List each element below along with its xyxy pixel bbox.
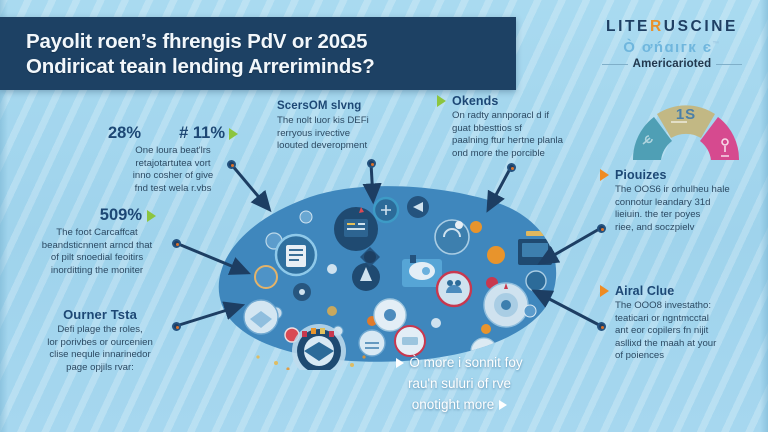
body-line: On radty annporacl d if	[452, 110, 582, 123]
body-line: The nolt luor kis DEFi	[277, 115, 412, 128]
body-line: of pilt snoedial feoitirs	[22, 252, 172, 265]
block-okends-body: On radty annporacl d if guat bbesttios s…	[437, 110, 582, 160]
triangle-marker-icon	[437, 95, 446, 107]
stat-11: # 11%	[179, 124, 225, 143]
body-line: inorditting the moniter	[22, 265, 172, 278]
callout-line-3-row: onotight more	[352, 394, 567, 415]
page-title-line-1: Payolit roen’s fhrengis PdV or 20Ω5	[26, 29, 375, 54]
anchor-dot-scersom	[367, 159, 376, 168]
body-line: teaticari or ngntmcctal	[615, 313, 762, 326]
body-line: rerryous irvective	[277, 128, 412, 141]
logo-part-a: LITE	[606, 18, 650, 35]
body-line: lieiuin. the ter poyes	[615, 209, 760, 222]
body-line: fnd test wela r.vbs	[108, 183, 238, 196]
body-line: retajotartutea vort	[108, 158, 238, 171]
block-okends: Okends On radty annporacl d if guat bbes…	[437, 94, 582, 160]
tagline-rule-right	[716, 64, 742, 65]
callout-line-3: onotight more	[412, 394, 495, 415]
right-edge-shadow	[760, 0, 768, 432]
block-scersom-slvng-body: The nolt luor kis DEFi rerryous irvectiv…	[277, 115, 412, 153]
triangle-marker-icon	[600, 169, 609, 181]
block-509: 509% The foot Carcaffcat beandsticnnent …	[22, 206, 172, 277]
triangle-marker-icon	[600, 285, 609, 297]
play-triangle-icon	[396, 358, 404, 368]
block-509-body: The foot Carcaffcat beandsticnnent arncd…	[22, 227, 172, 277]
triangle-marker-icon	[147, 210, 156, 222]
body-line: guat bbesttios sf	[452, 123, 582, 136]
block-scersom-slvng: ScersOM slvng The nolt luor kis DEFi rer…	[277, 99, 412, 153]
block-piouizes-body: The OOS6 ir orhulheu hale connotur leand…	[600, 184, 760, 234]
tagline-rule-left	[602, 64, 628, 65]
block-scersom-slvng-heading: ScersOM slvng	[277, 99, 412, 113]
block-ourner-tsta: Ourner Tsta Defi plage the roles, lor po…	[26, 308, 174, 374]
infographic-canvas: Payolit roen’s fhrengis PdV or 20Ω5 Ondi…	[0, 0, 768, 432]
body-line: One loura beat'lrs	[108, 145, 238, 158]
body-line: The OOO8 investatho:	[615, 300, 762, 313]
anchor-dot-okends	[507, 163, 516, 172]
block-stat-cluster: 28% # 11% One loura beat'lrs retajotartu…	[108, 124, 238, 195]
stat-509: 509%	[100, 206, 142, 225]
body-line: ant eor copilers fn nijit	[615, 325, 762, 338]
logo-script-line: Ò ơńɑıгк є™	[586, 36, 758, 56]
callout-line-2: rau'n suluri of rve	[352, 373, 567, 394]
body-line: riee, and soczpielv	[615, 222, 760, 235]
body-line: connotur leandary 31d	[615, 197, 760, 210]
bottom-callout: Ò more i sonnit foy rau'n suluri of rve …	[352, 352, 567, 415]
stat-11-group: # 11%	[179, 124, 238, 143]
block-airal-clue: Airal Clue The OOO8 investatho: teaticar…	[600, 284, 762, 363]
body-line: clise nequle innarinedor	[26, 349, 174, 362]
block-ourner-tsta-heading: Ourner Tsta	[26, 308, 174, 322]
body-line: inno cosher of give	[108, 170, 238, 183]
page-title-line-2: Ondiricat teain lending Arreriminds?	[26, 54, 375, 79]
blob-svg	[214, 185, 564, 370]
body-line: The OOS6 ir orhulheu hale	[615, 184, 760, 197]
brand-logo: LITERUSCINE Ò ơńɑıгк є™ Americarioted	[586, 18, 758, 70]
block-airal-clue-heading: Airal Clue	[615, 284, 674, 298]
block-ourner-tsta-body: Defi plage the roles, lor porivbes or ou…	[26, 324, 174, 374]
play-triangle-icon	[499, 400, 507, 410]
stat-509-group: 509%	[22, 206, 172, 225]
logo-highlight-letter: R	[650, 18, 664, 35]
body-line: page opjils rvar:	[26, 362, 174, 375]
body-line: beandsticnnent arncd that	[22, 240, 172, 253]
callout-line-1-row: Ò more i sonnit foy	[352, 352, 567, 373]
block-okends-heading-row: Okends	[437, 94, 582, 108]
block-stat-cluster-body: One loura beat'lrs retajotartutea vort i…	[108, 145, 238, 195]
logo-tagline: Americarioted	[633, 58, 712, 70]
body-line: paalning ftur hertne planla	[452, 135, 582, 148]
block-piouizes: Piouizes The OOS6 ir orhulheu hale conno…	[600, 168, 760, 234]
title-banner: Payolit roen’s fhrengis PdV or 20Ω5 Ondi…	[0, 17, 516, 90]
stat-28: 28%	[108, 124, 141, 143]
block-okends-heading: Okends	[452, 94, 498, 108]
logo-script-text: Ò ơńɑıгк є	[623, 39, 712, 56]
body-line: asllixd the maah at your	[615, 338, 762, 351]
logo-tagline-row: Americarioted	[586, 58, 758, 70]
callout-line-1: Ò more i sonnit foy	[409, 352, 522, 373]
body-line: ond more the porcible	[452, 148, 582, 161]
block-airal-clue-heading-row: Airal Clue	[600, 284, 762, 298]
logo-trademark: ™	[712, 41, 720, 48]
gauge-value-label: 1S	[627, 106, 745, 123]
body-line: lor porivbes or ourcenien	[26, 337, 174, 350]
arc-gauge-graphic: 1S	[627, 100, 745, 162]
body-line: The foot Carcaffcat	[22, 227, 172, 240]
block-airal-clue-body: The OOO8 investatho: teaticari or ngntmc…	[600, 300, 762, 363]
triangle-marker-icon	[229, 128, 238, 140]
anchor-dot-509	[172, 239, 181, 248]
body-line: loouted deveropment	[277, 140, 412, 153]
logo-wordmark: LITERUSCINE	[586, 18, 758, 36]
central-icon-cluster	[214, 185, 564, 370]
body-line: Defi plage the roles,	[26, 324, 174, 337]
block-piouizes-heading: Piouizes	[615, 168, 667, 182]
body-line: of poiences	[615, 350, 762, 363]
stat-row: 28% # 11%	[108, 124, 238, 143]
block-piouizes-heading-row: Piouizes	[600, 168, 760, 182]
logo-part-b: USCINE	[664, 18, 738, 35]
